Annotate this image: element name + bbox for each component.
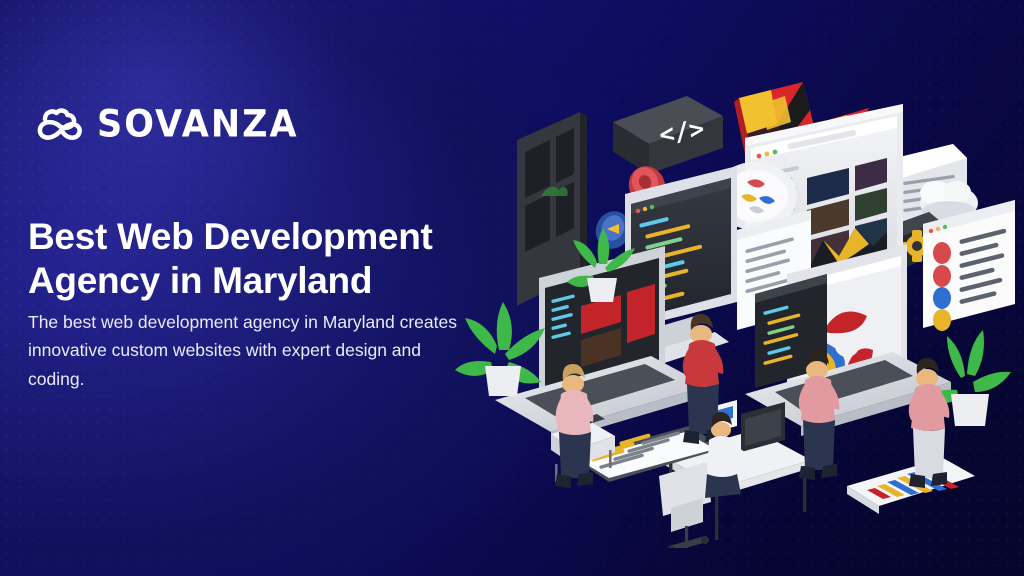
code-tile: </> <box>613 96 723 174</box>
cloud-infinity-mark <box>28 104 84 146</box>
hero-banner: SOVANZA Best Web Development Agency in M… <box>0 0 1024 576</box>
hero-illustration: </> <box>455 78 1024 548</box>
brand-wordmark: SOVANZA <box>97 106 299 143</box>
hero-copy-column: SOVANZA Best Web Development Agency in M… <box>28 0 498 576</box>
page-title: Best Web Development Agency in Maryland <box>28 215 488 302</box>
headline-line-2: Agency in Maryland <box>28 259 488 303</box>
isometric-workspace-scene: </> <box>455 78 1024 548</box>
headline-line-1: Best Web Development <box>28 216 433 257</box>
brand-logo[interactable]: SOVANZA <box>28 104 299 146</box>
hero-subcopy: The best web development agency in Maryl… <box>28 308 476 393</box>
plant-left <box>455 302 545 396</box>
